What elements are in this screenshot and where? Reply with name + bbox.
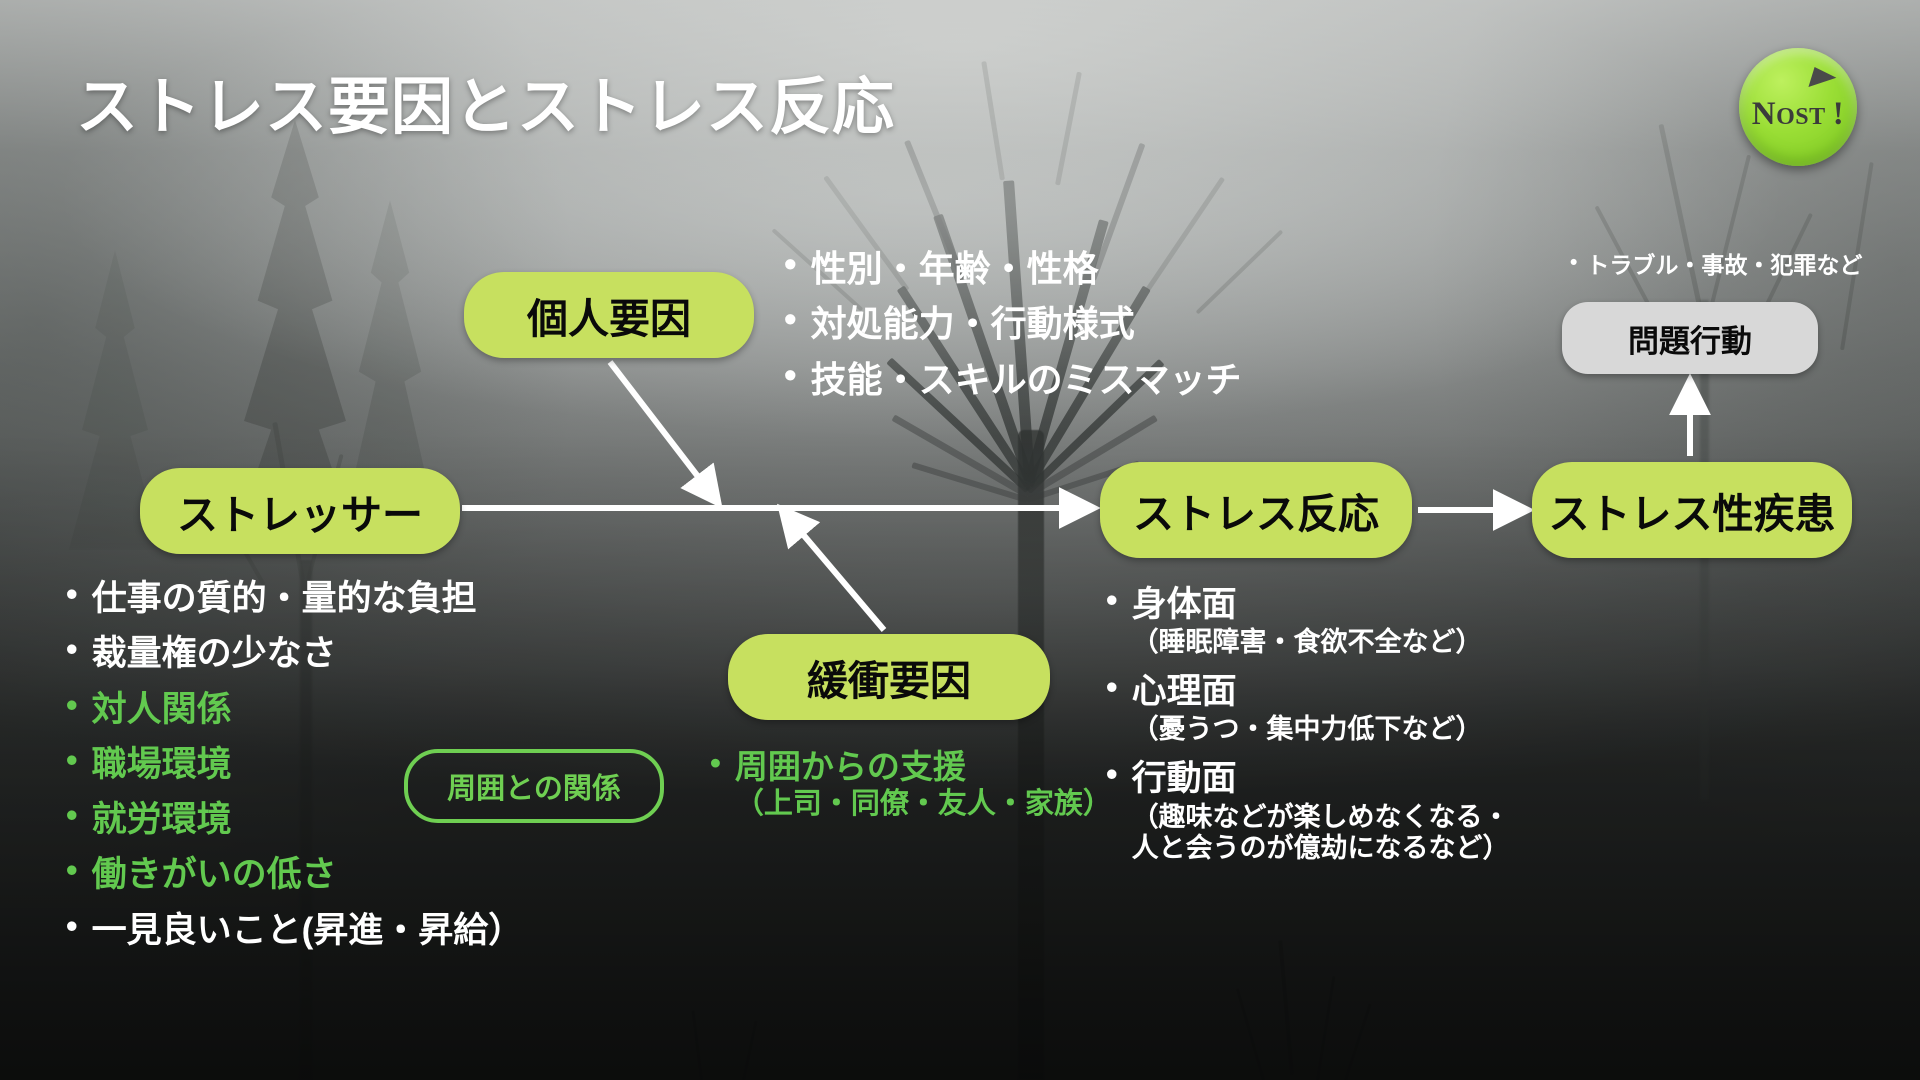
bullet-icon: • — [1570, 252, 1577, 273]
bullet-icon: • — [66, 909, 78, 942]
list-item: •職場環境 — [66, 744, 523, 785]
list-item: •一見良いこと(昇進・昇給） — [66, 910, 523, 951]
list-item-sub: （睡眠障害・食欲不全など） — [1132, 627, 1483, 659]
list-item-sub: （趣味などが楽しめなくなる・ 人と会うのが億劫になるなど） — [1132, 802, 1510, 866]
list-item: • 身体面 （睡眠障害・食欲不全など） — [1106, 584, 1510, 659]
list-item: • 周囲からの支援 （上司・同僚・友人・家族） — [710, 748, 1112, 821]
slide-canvas: ストレス要因とストレス反応 NOST ! 個人要因 ストレッサー 緩衝要因 スト… — [0, 0, 1920, 1080]
triangle-icon — [1808, 67, 1837, 94]
bullet-icon: • — [784, 357, 797, 393]
list-item-label: 性別・年齢・性格 — [811, 248, 1099, 290]
bullet-icon: • — [710, 747, 721, 778]
list-item: •就労環境 — [66, 799, 523, 840]
node-kojin-youin[interactable]: 個人要因 — [464, 272, 754, 358]
list-item: •働きがいの低さ — [66, 854, 523, 895]
list-item: • 心理面 （憂うつ・集中力低下など） — [1106, 671, 1510, 746]
list-item-label: 対処能力・行動様式 — [811, 303, 1135, 345]
list-item: •対人関係 — [66, 689, 523, 730]
list-item: • 行動面 （趣味などが楽しめなくなる・ 人と会うのが億劫になるなど） — [1106, 758, 1510, 865]
bullet-icon: • — [784, 301, 797, 337]
list-item-title: 周囲からの支援 — [735, 748, 966, 785]
bullet-icon: • — [1106, 757, 1118, 790]
list-item-title: 心理面 — [1132, 672, 1237, 711]
list-stressor-items: •仕事の質的・量的な負担 •裁量権の少なさ •対人関係 •職場環境 •就労環境 … — [66, 578, 523, 965]
list-item: •トラブル・事故・犯罪など — [1570, 252, 1862, 279]
list-kansho-support: • 周囲からの支援 （上司・同僚・友人・家族） — [710, 748, 1112, 821]
list-item-label: 身体面 （睡眠障害・食欲不全など） — [1132, 584, 1483, 659]
bullet-icon: • — [66, 853, 78, 886]
list-item-label: 一見良いこと(昇進・昇給） — [92, 910, 524, 951]
list-item-label: 仕事の質的・量的な負担 — [92, 578, 477, 619]
list-problem-examples: •トラブル・事故・犯罪など — [1570, 252, 1862, 279]
list-item-title: 行動面 — [1132, 759, 1237, 798]
logo-text-small: OST — [1776, 104, 1826, 130]
list-item-label: 技能・スキルのミスマッチ — [811, 359, 1242, 401]
node-stressor[interactable]: ストレッサー — [140, 468, 460, 554]
list-item-label: 周囲からの支援 （上司・同僚・友人・家族） — [735, 748, 1112, 821]
list-kojin-factors: •性別・年齢・性格 •対処能力・行動様式 •技能・スキルのミスマッチ — [784, 248, 1242, 414]
list-item-label: 裁量権の少なさ — [92, 633, 337, 674]
list-item-label: トラブル・事故・犯罪など — [1586, 252, 1862, 279]
list-item-label: 対人関係 — [92, 689, 232, 730]
bullet-icon: • — [66, 688, 78, 721]
node-stress-disease[interactable]: ストレス性疾患 — [1532, 462, 1852, 558]
bullet-icon: • — [66, 577, 78, 610]
list-item: •性別・年齢・性格 — [784, 248, 1242, 290]
list-item: •仕事の質的・量的な負担 — [66, 578, 523, 619]
list-reaction-aspects: • 身体面 （睡眠障害・食欲不全など） • 心理面 （憂うつ・集中力低下など） … — [1106, 584, 1510, 877]
list-item: •裁量権の少なさ — [66, 633, 523, 674]
list-item-title: 身体面 — [1132, 585, 1237, 624]
list-item: •対処能力・行動様式 — [784, 303, 1242, 345]
page-title: ストレス要因とストレス反応 — [76, 56, 895, 146]
brand-logo[interactable]: NOST ! — [1739, 48, 1857, 166]
list-item-label: 働きがいの低さ — [92, 854, 337, 895]
node-stress-reaction[interactable]: ストレス反応 — [1100, 462, 1412, 558]
list-item-label: 行動面 （趣味などが楽しめなくなる・ 人と会うのが億劫になるなど） — [1132, 758, 1510, 865]
list-item-sub: （憂うつ・集中力低下など） — [1132, 714, 1483, 746]
bullet-icon: • — [66, 743, 78, 776]
logo-text: NOST ! — [1752, 96, 1844, 133]
list-item-label: 心理面 （憂うつ・集中力低下など） — [1132, 671, 1483, 746]
node-kansho-youin[interactable]: 緩衝要因 — [728, 634, 1050, 720]
list-item-sub: （上司・同僚・友人・家族） — [735, 787, 1112, 821]
list-item-label: 職場環境 — [92, 744, 232, 785]
bullet-icon: • — [1106, 670, 1118, 703]
bullet-icon: • — [784, 246, 797, 282]
bullet-icon: • — [66, 632, 78, 665]
bullet-icon: • — [1106, 583, 1118, 616]
list-item-label: 就労環境 — [92, 799, 232, 840]
bullet-icon: • — [66, 798, 78, 831]
node-problem-behavior[interactable]: 問題行動 — [1562, 302, 1818, 374]
list-item: •技能・スキルのミスマッチ — [784, 359, 1242, 401]
